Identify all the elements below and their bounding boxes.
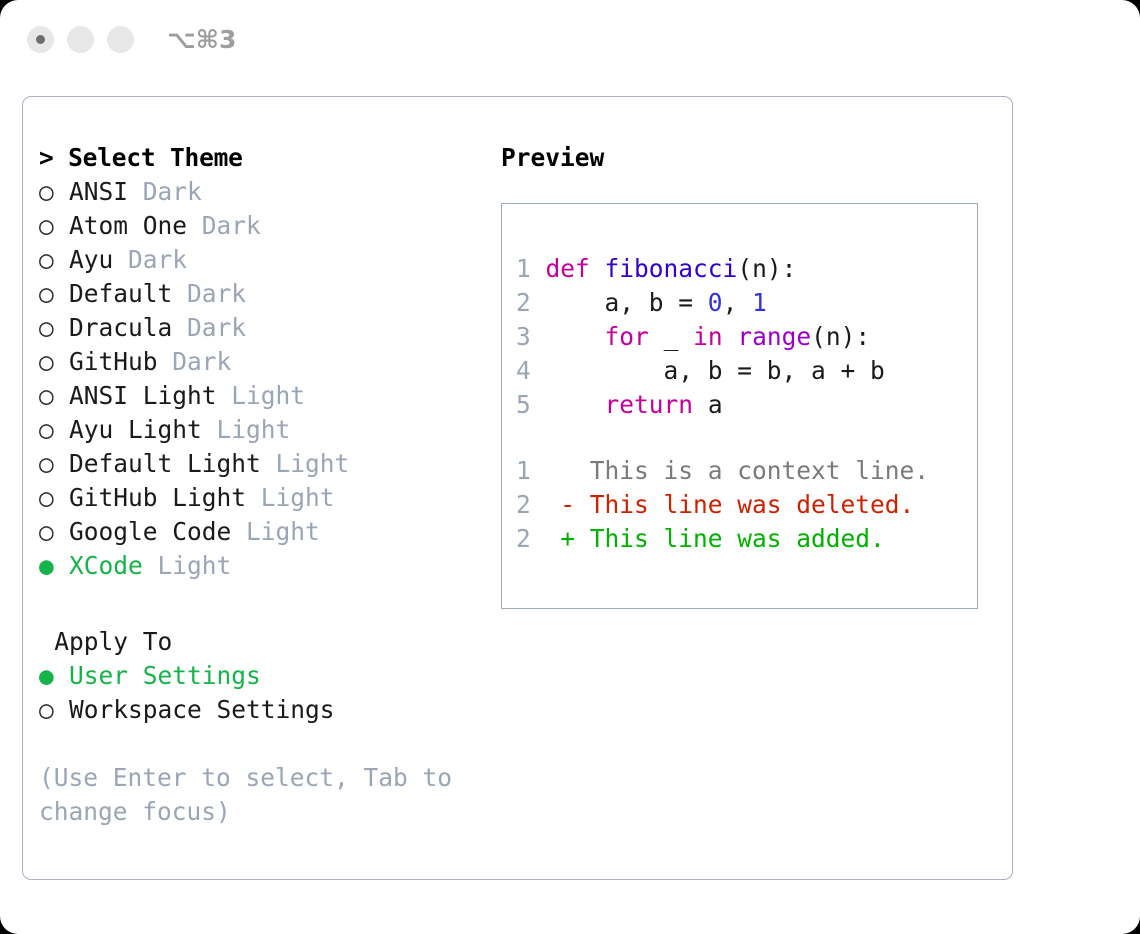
code-token-plain: , [723,288,753,317]
preview-box: 1 def fibonacci(n):2 a, b = 0, 13 for _ … [501,203,978,609]
theme-option-dracula[interactable]: ○ Dracula Dark [39,311,489,345]
code-token-kw: return [605,390,694,419]
theme-option-default-light[interactable]: ○ Default Light Light [39,447,489,481]
theme-option-ayu[interactable]: ○ Ayu Dark [39,243,489,277]
theme-name: Atom One [69,211,187,240]
diff-text: This is a context line. [575,456,929,485]
theme-option-google-code[interactable]: ○ Google Code Light [39,515,489,549]
line-number: 1 [516,456,531,485]
theme-kind-badge: Dark [202,211,261,240]
apply-to-option-workspace-settings[interactable]: ○ Workspace Settings [39,693,489,727]
line-number: 4 [516,356,531,385]
apply-to-heading: Apply To [39,625,489,659]
main-panel: > Select Theme ○ ANSI Dark○ Atom One Dar… [22,96,1013,880]
window-dot-third[interactable] [107,26,134,53]
record-dot-icon [36,35,45,44]
code-line: 4 a, b = b, a + b [516,354,966,388]
theme-option-ansi[interactable]: ○ ANSI Dark [39,175,489,209]
code-token-plain: (n): [811,322,870,351]
preview-heading: Preview [501,141,991,175]
theme-option-atom-one[interactable]: ○ Atom One Dark [39,209,489,243]
apply-to-options: ● User Settings○ Workspace Settings [39,659,489,727]
code-preview: 1 def fibonacci(n):2 a, b = 0, 13 for _ … [516,252,966,556]
theme-name: Dracula [69,313,172,342]
theme-name: ANSI Light [69,381,217,410]
diff-text: This line was added. [575,524,885,553]
app-window: ⌥⌘3 > Select Theme ○ ANSI Dark○ Atom One… [0,0,1140,934]
line-number: 1 [516,254,531,283]
theme-name: Google Code [69,517,231,546]
theme-option-xcode[interactable]: ● XCode Light [39,549,489,583]
radio-unselected-icon: ○ [39,311,54,345]
code-token-plain: a, b = b, a + b [546,356,885,385]
code-line: 1 def fibonacci(n): [516,252,966,286]
code-token-kw: for [605,322,649,351]
select-theme-heading: > Select Theme [39,141,489,175]
theme-name: GitHub Light [69,483,246,512]
code-line: 5 return a [516,388,966,422]
code-token-plain: a [693,390,723,419]
theme-kind-badge: Light [275,449,349,478]
window-titlebar: ⌥⌘3 [0,0,1140,78]
line-number: 5 [516,390,531,419]
theme-name: XCode [69,551,143,580]
code-token-kw: in [693,322,723,351]
line-number: 3 [516,322,531,351]
radio-unselected-icon: ○ [39,379,54,413]
apply-to-group: Apply To ● User Settings○ Workspace Sett… [39,625,489,727]
theme-name: ANSI [69,177,128,206]
code-line: 2 a, b = 0, 1 [516,286,966,320]
keyboard-shortcut-label: ⌥⌘3 [167,27,236,52]
theme-kind-badge: Light [216,415,290,444]
keyboard-hint-text: (Use Enter to select, Tab to change focu… [39,761,459,829]
theme-option-ansi-light[interactable]: ○ ANSI Light Light [39,379,489,413]
radio-unselected-icon: ○ [39,209,54,243]
code-token-plain: a, b = [546,288,708,317]
radio-unselected-icon: ○ [39,277,54,311]
diff-line-ctx: 1 This is a context line. [516,454,966,488]
theme-option-github[interactable]: ○ GitHub Dark [39,345,489,379]
radio-unselected-icon: ○ [39,481,54,515]
apply-to-option-label: Workspace Settings [69,695,335,724]
line-number: 2 [516,490,531,519]
theme-kind-badge: Light [231,381,305,410]
window-dot-second[interactable] [67,26,94,53]
theme-option-default[interactable]: ○ Default Dark [39,277,489,311]
radio-selected-icon: ● [39,659,54,693]
theme-selector-list: > Select Theme ○ ANSI Dark○ Atom One Dar… [39,141,489,583]
code-token-kw: def [546,254,605,283]
theme-items-container: ○ ANSI Dark○ Atom One Dark○ Ayu Dark○ De… [39,175,489,583]
syntax-sample-lines: 1 def fibonacci(n):2 a, b = 0, 13 for _ … [516,252,966,422]
code-token-bi: range [737,322,811,351]
line-number: 2 [516,524,531,553]
code-token-plain [723,322,738,351]
code-token-num: 1 [752,288,767,317]
code-token-plain: _ [649,322,693,351]
radio-unselected-icon: ○ [39,515,54,549]
window-dot-active[interactable] [27,26,54,53]
apply-to-label: Apply To [54,627,172,656]
theme-kind-badge: Light [246,517,320,546]
theme-name: Ayu Light [69,415,202,444]
theme-kind-badge: Dark [187,313,246,342]
theme-kind-badge: Light [157,551,231,580]
theme-name: GitHub [69,347,158,376]
radio-unselected-icon: ○ [39,413,54,447]
code-line: 3 for _ in range(n): [516,320,966,354]
select-theme-marker: > [39,143,54,172]
theme-option-github-light[interactable]: ○ GitHub Light Light [39,481,489,515]
line-number: 2 [516,288,531,317]
radio-unselected-icon: ○ [39,175,54,209]
select-theme-label: Select Theme [68,143,243,172]
code-token-plain [546,390,605,419]
theme-kind-badge: Light [261,483,335,512]
radio-unselected-icon: ○ [39,345,54,379]
radio-selected-icon: ● [39,549,54,583]
code-token-fn: fibonacci [605,254,738,283]
code-token-plain [546,322,605,351]
code-token-num: 0 [708,288,723,317]
preview-section: Preview [501,141,991,175]
apply-to-option-user-settings[interactable]: ● User Settings [39,659,489,693]
theme-name: Default [69,279,172,308]
code-spacer [516,422,966,454]
diff-sample-lines: 1 This is a context line.2 - This line w… [516,454,966,556]
theme-option-ayu-light[interactable]: ○ Ayu Light Light [39,413,489,447]
code-token-plain: (n): [737,254,796,283]
theme-kind-badge: Dark [187,279,246,308]
diff-line-del: 2 - This line was deleted. [516,488,966,522]
radio-unselected-icon: ○ [39,693,54,727]
diff-sign [560,456,575,485]
panel-content: > Select Theme ○ ANSI Dark○ Atom One Dar… [23,97,1012,879]
theme-name: Default Light [69,449,261,478]
diff-sign: + [560,524,575,553]
diff-line-add: 2 + This line was added. [516,522,966,556]
window-controls [27,26,134,53]
theme-name: Ayu [69,245,113,274]
apply-to-option-label: User Settings [69,661,261,690]
theme-kind-badge: Dark [172,347,231,376]
diff-sign: - [560,490,575,519]
radio-unselected-icon: ○ [39,447,54,481]
theme-kind-badge: Dark [143,177,202,206]
radio-unselected-icon: ○ [39,243,54,277]
theme-kind-badge: Dark [128,245,187,274]
diff-text: This line was deleted. [575,490,914,519]
